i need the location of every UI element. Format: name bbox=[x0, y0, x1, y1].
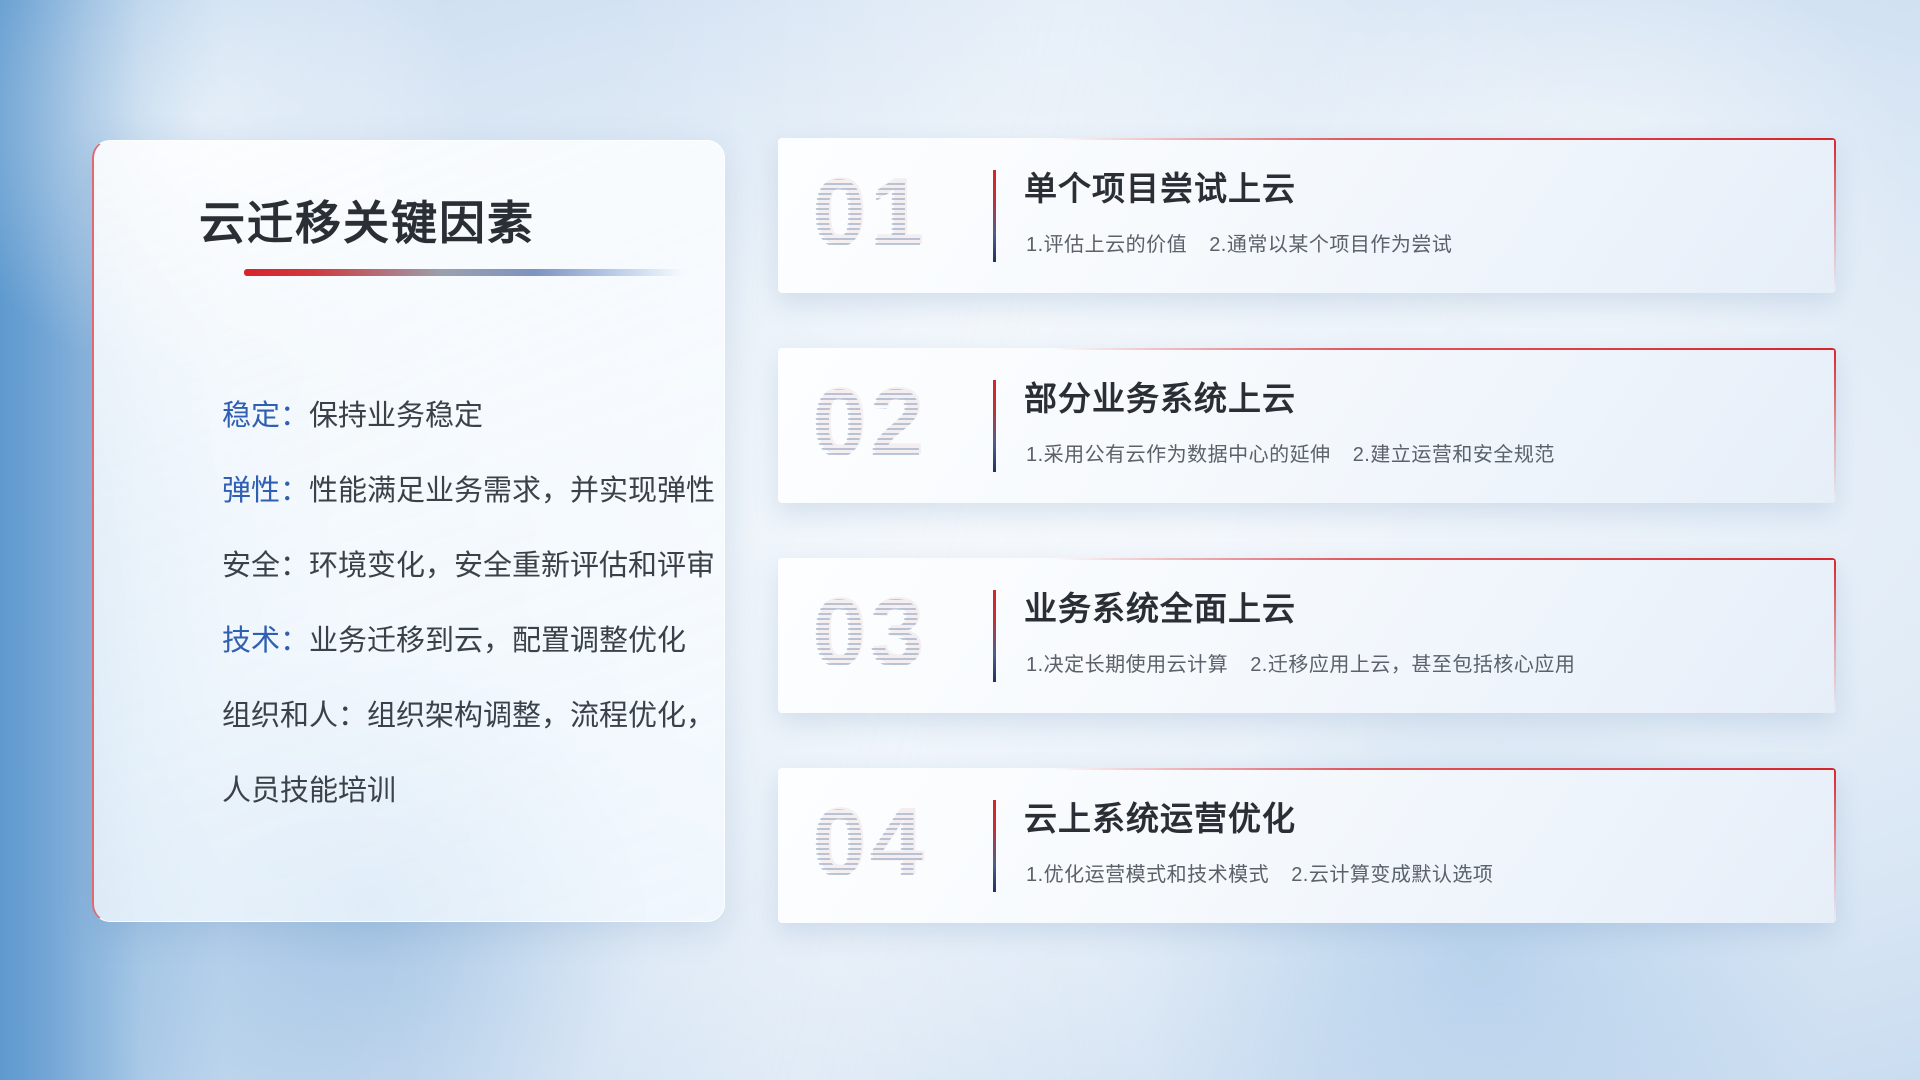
stage-title: 业务系统全面上云 bbox=[1024, 582, 1296, 630]
list-item-text: 保持业务稳定 bbox=[309, 400, 483, 432]
list-item-text: 性能满足业务需求，并实现弹性 bbox=[309, 475, 715, 507]
stage-number-icon: 01 bbox=[812, 158, 962, 270]
stage-description: 1.决定长期使用云计算2.迁移应用上云，甚至包括核心应用 bbox=[1026, 648, 1575, 677]
list-item: 稳定：保持业务稳定 bbox=[222, 379, 688, 454]
key-factors-panel: 云迁移关键因素 稳定：保持业务稳定 弹性：性能满足业务需求，并实现弹性 安全：环… bbox=[92, 140, 725, 922]
stage-description: 1.优化运营模式和技术模式2.云计算变成默认选项 bbox=[1026, 858, 1493, 887]
list-item: 组织和人：组织架构调整，流程优化， bbox=[222, 679, 688, 754]
list-item-key: 组织和人： bbox=[222, 700, 367, 732]
card-right-edge-accent bbox=[1834, 348, 1836, 503]
card-right-edge-accent bbox=[1834, 558, 1836, 713]
stage-card-list: 01 01 单个项目尝试上云 1.评估上云的价值2.通常以某个项目作为尝试 02… bbox=[778, 138, 1836, 978]
list-item-text: 环境变化，安全重新评估和评审 bbox=[309, 550, 715, 582]
stage-description-part-1: 1.评估上云的价值 bbox=[1026, 234, 1187, 256]
stage-card-01[interactable]: 01 01 单个项目尝试上云 1.评估上云的价值2.通常以某个项目作为尝试 bbox=[778, 138, 1836, 293]
stage-description: 1.采用公有云作为数据中心的延伸2.建立运营和安全规范 bbox=[1026, 438, 1555, 467]
list-item: 弹性：性能满足业务需求，并实现弹性 bbox=[222, 454, 688, 529]
card-right-edge-accent bbox=[1834, 138, 1836, 293]
list-item-text: 业务迁移到云，配置调整优化 bbox=[309, 625, 686, 657]
key-factors-list: 稳定：保持业务稳定 弹性：性能满足业务需求，并实现弹性 安全：环境变化，安全重新… bbox=[222, 379, 688, 829]
stage-description-part-2: 2.建立运营和安全规范 bbox=[1353, 444, 1555, 466]
stage-description-part-2: 2.通常以某个项目作为尝试 bbox=[1209, 234, 1452, 256]
list-item-text: 组织架构调整，流程优化， bbox=[367, 700, 715, 732]
list-item-text: 人员技能培训 bbox=[222, 775, 396, 807]
list-item: 安全：环境变化，安全重新评估和评审 bbox=[222, 529, 688, 604]
list-item-key: 弹性： bbox=[222, 475, 309, 507]
stage-card-04[interactable]: 04 04 云上系统运营优化 1.优化运营模式和技术模式2.云计算变成默认选项 bbox=[778, 768, 1836, 923]
card-accent-bar bbox=[993, 380, 996, 472]
stage-description-part-1: 1.优化运营模式和技术模式 bbox=[1026, 864, 1269, 886]
stage-title: 单个项目尝试上云 bbox=[1024, 162, 1296, 210]
page-title: 云迁移关键因素 bbox=[199, 187, 535, 253]
list-item: 技术：业务迁移到云，配置调整优化 bbox=[222, 604, 688, 679]
list-item-key: 安全： bbox=[222, 550, 309, 582]
stage-number-icon: 03 bbox=[812, 578, 962, 690]
stage-description: 1.评估上云的价值2.通常以某个项目作为尝试 bbox=[1026, 228, 1452, 257]
card-accent-bar bbox=[993, 800, 996, 892]
list-item-key: 稳定： bbox=[222, 400, 309, 432]
stage-card-03[interactable]: 03 03 业务系统全面上云 1.决定长期使用云计算2.迁移应用上云，甚至包括核… bbox=[778, 558, 1836, 713]
stage-title: 云上系统运营优化 bbox=[1024, 792, 1296, 840]
stage-description-part-2: 2.云计算变成默认选项 bbox=[1291, 864, 1493, 886]
list-item-key: 技术： bbox=[222, 625, 309, 657]
list-item: 人员技能培训 bbox=[222, 754, 688, 829]
stage-description-part-1: 1.决定长期使用云计算 bbox=[1026, 654, 1228, 676]
title-underline-rule bbox=[244, 269, 684, 276]
card-right-edge-accent bbox=[1834, 768, 1836, 923]
stage-card-02[interactable]: 02 02 部分业务系统上云 1.采用公有云作为数据中心的延伸2.建立运营和安全… bbox=[778, 348, 1836, 503]
stage-description-part-1: 1.采用公有云作为数据中心的延伸 bbox=[1026, 444, 1331, 466]
stage-number-icon: 02 bbox=[812, 368, 962, 480]
stage-description-part-2: 2.迁移应用上云，甚至包括核心应用 bbox=[1250, 654, 1575, 676]
stage-title: 部分业务系统上云 bbox=[1024, 372, 1296, 420]
stage-number-icon: 04 bbox=[812, 788, 962, 900]
card-accent-bar bbox=[993, 170, 996, 262]
card-accent-bar bbox=[993, 590, 996, 682]
